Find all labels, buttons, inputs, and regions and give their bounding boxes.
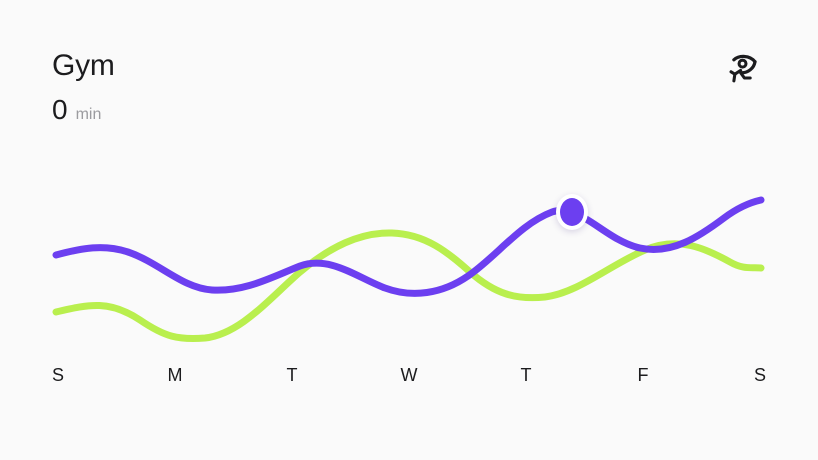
gym-activity-card: Gym 0 min S M T (0, 0, 818, 460)
running-person-icon (720, 48, 766, 90)
axis-label-friday[interactable]: F (623, 362, 663, 388)
metric-row: 0 min (52, 94, 115, 126)
axis-label-thursday[interactable]: T (506, 362, 546, 388)
page-title: Gym (52, 48, 115, 84)
activity-chart (0, 170, 818, 350)
axis-label-wednesday[interactable]: W (389, 362, 429, 388)
axis-label-monday[interactable]: M (155, 362, 195, 388)
x-axis-labels: S M T W T F S (0, 362, 818, 390)
axis-label-tuesday[interactable]: T (272, 362, 312, 388)
selected-point-marker[interactable] (556, 194, 588, 230)
selected-point-dot (560, 198, 584, 226)
metric-unit: min (76, 105, 102, 125)
header-text-block: Gym 0 min (52, 48, 115, 126)
card-header: Gym 0 min (52, 48, 766, 126)
axis-label-sunday[interactable]: S (38, 362, 78, 388)
axis-label-saturday[interactable]: S (740, 362, 780, 388)
metric-value: 0 (52, 94, 68, 126)
chart-line-purple (56, 200, 761, 293)
